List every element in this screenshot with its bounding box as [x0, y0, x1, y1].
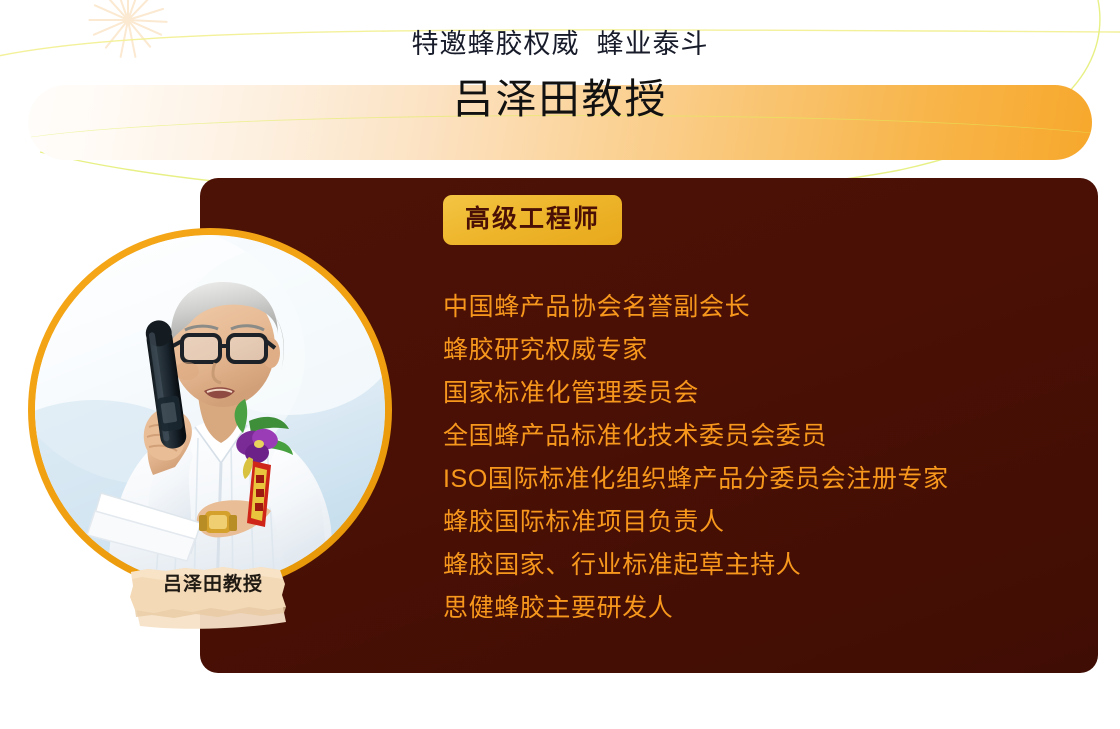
- portrait-photo: [35, 235, 385, 585]
- expert-name-banner-text: 吕泽田教授: [0, 72, 1120, 126]
- list-item: ISO国际标准化组织蜂产品分委员会注册专家: [443, 458, 1063, 501]
- list-item: 蜂胶研究权威专家: [443, 329, 1063, 372]
- list-item: 全国蜂产品标准化技术委员会委员: [443, 415, 1063, 458]
- list-item: 中国蜂产品协会名誉副会长: [443, 286, 1063, 329]
- status-badge: 高级工程师: [443, 195, 622, 245]
- list-item: 思健蜂胶主要研发人: [443, 587, 1063, 630]
- list-item: 蜂胶国家、行业标准起草主持人: [443, 544, 1063, 587]
- expert-profile-card: 特邀蜂胶权威 蜂业泰斗 吕泽田教授 高级工程师 中国蜂产品协会名誉副会长 蜂胶研…: [0, 0, 1120, 729]
- list-item: 蜂胶国际标准项目负责人: [443, 501, 1063, 544]
- credentials-list: 中国蜂产品协会名誉副会长 蜂胶研究权威专家 国家标准化管理委员会 全国蜂产品标准…: [443, 286, 1063, 630]
- page-title: 特邀蜂胶权威 蜂业泰斗: [0, 27, 1120, 61]
- portrait-nametag: 吕泽田教授: [122, 559, 300, 633]
- portrait: [28, 228, 392, 592]
- nametag-text: 吕泽田教授: [140, 573, 286, 597]
- list-item: 国家标准化管理委员会: [443, 372, 1063, 415]
